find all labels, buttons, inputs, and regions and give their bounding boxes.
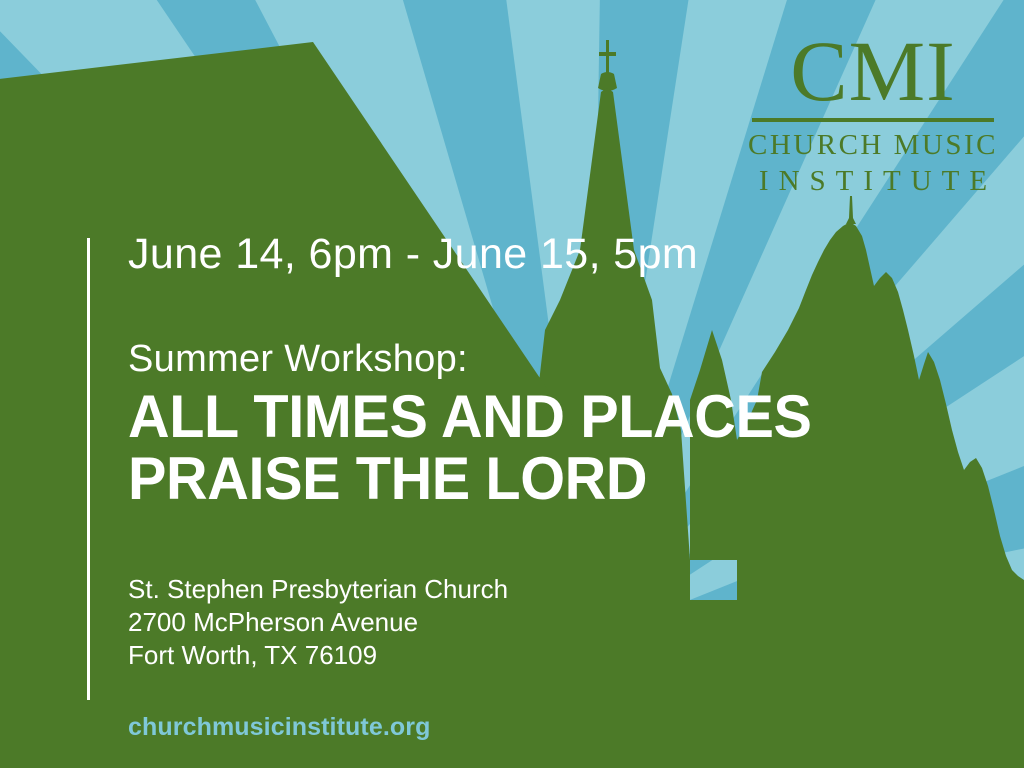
venue-name: St. Stephen Presbyterian Church xyxy=(128,573,828,606)
logo-church-music: CHURCH MUSIC xyxy=(748,131,998,160)
logo-monogram: CMI xyxy=(748,28,998,116)
venue-address-block: St. Stephen Presbyterian Church 2700 McP… xyxy=(128,573,828,672)
headline-line-1: ALL TIMES AND PLACES xyxy=(128,386,800,448)
cmi-logo: CMI CHURCH MUSIC INSTITUTE xyxy=(748,28,998,196)
venue-city-state-zip: Fort Worth, TX 76109 xyxy=(128,639,828,672)
vertical-accent-rule xyxy=(87,238,90,700)
event-headline: ALL TIMES AND PLACES PRAISE THE LORD xyxy=(128,386,800,510)
logo-institute: INSTITUTE xyxy=(748,167,998,196)
event-dateline: June 14, 6pm - June 15, 5pm xyxy=(128,232,828,277)
poster-content: June 14, 6pm - June 15, 5pm Summer Works… xyxy=(128,232,828,742)
venue-street: 2700 McPherson Avenue xyxy=(128,606,828,639)
event-eyebrow: Summer Workshop: xyxy=(128,340,828,380)
headline-line-2: PRAISE THE LORD xyxy=(128,448,800,510)
poster-canvas: CMI CHURCH MUSIC INSTITUTE June 14, 6pm … xyxy=(0,0,1024,768)
website-link[interactable]: churchmusicinstitute.org xyxy=(128,713,430,742)
